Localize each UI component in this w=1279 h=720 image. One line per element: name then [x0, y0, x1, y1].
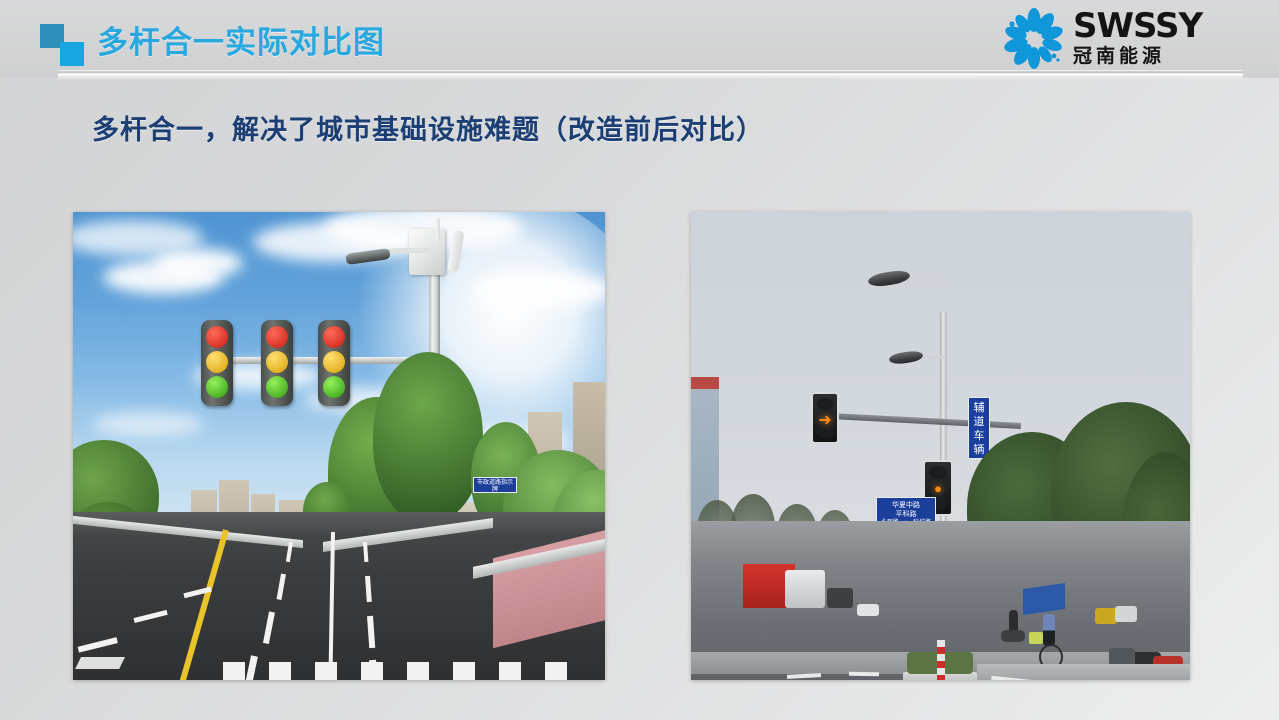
antenna	[436, 218, 440, 242]
sign-auxiliary-lane-text: 辅道车辆	[974, 402, 985, 456]
traffic-signal-arrow: ➜	[811, 392, 839, 444]
parked-car	[827, 588, 853, 608]
scooter-a	[1001, 630, 1025, 642]
crosswalk-stripe	[453, 662, 475, 680]
signal-slot-top	[929, 466, 947, 479]
slide-root: 多杆合一实际对比图	[0, 0, 1279, 720]
signal-orange-lamp-icon: ●	[934, 481, 942, 496]
signal-slot-top	[817, 398, 834, 410]
crosswalk-stripe	[361, 662, 383, 680]
traffic-light	[201, 320, 233, 406]
crosswalk-stripe	[315, 662, 337, 680]
slide-subtitle: 多杆合一，解决了城市基础设施难题（改造前后对比）	[92, 108, 764, 147]
guide-sign-line-2: 平科路	[878, 510, 934, 519]
crosswalk-stripe	[223, 662, 245, 680]
crosswalk-stripe	[545, 662, 567, 680]
traffic-lamp-green	[206, 376, 228, 398]
crosswalk-stripe	[269, 662, 291, 680]
signal-orange-arrow-icon: ➜	[818, 410, 831, 430]
traffic-lamp-yellow	[206, 351, 228, 373]
road-lane-dash	[849, 672, 879, 677]
decor-square-light-icon	[60, 42, 84, 66]
crosswalk-stripe	[499, 662, 521, 680]
guide-sign-line-1: 华夏中路	[878, 501, 934, 510]
slide-header: 多杆合一实际对比图	[0, 0, 1279, 78]
header-divider-glow	[58, 74, 1243, 80]
parked-scooter	[1095, 608, 1117, 624]
traffic-lamp-green	[266, 376, 288, 398]
carried-bag	[1029, 632, 1043, 644]
tree	[373, 352, 483, 522]
logo-brand-latin: SWSSY	[1073, 8, 1202, 44]
crosswalk	[73, 658, 605, 680]
cyclist-b	[1043, 614, 1055, 646]
header-decoration	[40, 24, 102, 66]
white-van	[785, 570, 825, 608]
traffic-lamp-red	[206, 326, 228, 348]
guide-sign-upper: 市政道路指示牌	[473, 477, 517, 493]
white-car	[857, 604, 879, 616]
water-droplet-rosette-icon	[1001, 7, 1067, 71]
traffic-lamp-red	[266, 326, 288, 348]
page-title: 多杆合一实际对比图	[97, 17, 385, 62]
traffic-lamp-green	[323, 376, 345, 398]
traffic-lamp-yellow	[323, 351, 345, 373]
cloud	[93, 412, 203, 436]
traffic-light	[318, 320, 350, 406]
logo-text-block: SWSSY 冠南能源	[1073, 8, 1202, 69]
company-logo: SWSSY 冠南能源	[1001, 4, 1261, 74]
image-after-photo: ➜ 辅道车辆 ● 华夏中路 平科路 永辉路 ↑ 科技路 ▤ ⚲	[691, 212, 1190, 680]
crosswalk-stripe	[407, 662, 429, 680]
image-before-render: 市政道路指示牌 区政中路	[73, 212, 605, 680]
sign-auxiliary-lane: 辅道车辆	[968, 397, 990, 459]
parked-scooter	[1115, 606, 1137, 622]
cloud	[473, 272, 605, 308]
traffic-light	[261, 320, 293, 406]
traffic-lamp-yellow	[266, 351, 288, 373]
pole-guard-post	[937, 640, 945, 680]
guide-sign-upper-text: 市政道路指示牌	[477, 480, 513, 493]
logo-brand-chinese: 冠南能源	[1073, 45, 1202, 69]
traffic-lamp-red	[323, 326, 345, 348]
